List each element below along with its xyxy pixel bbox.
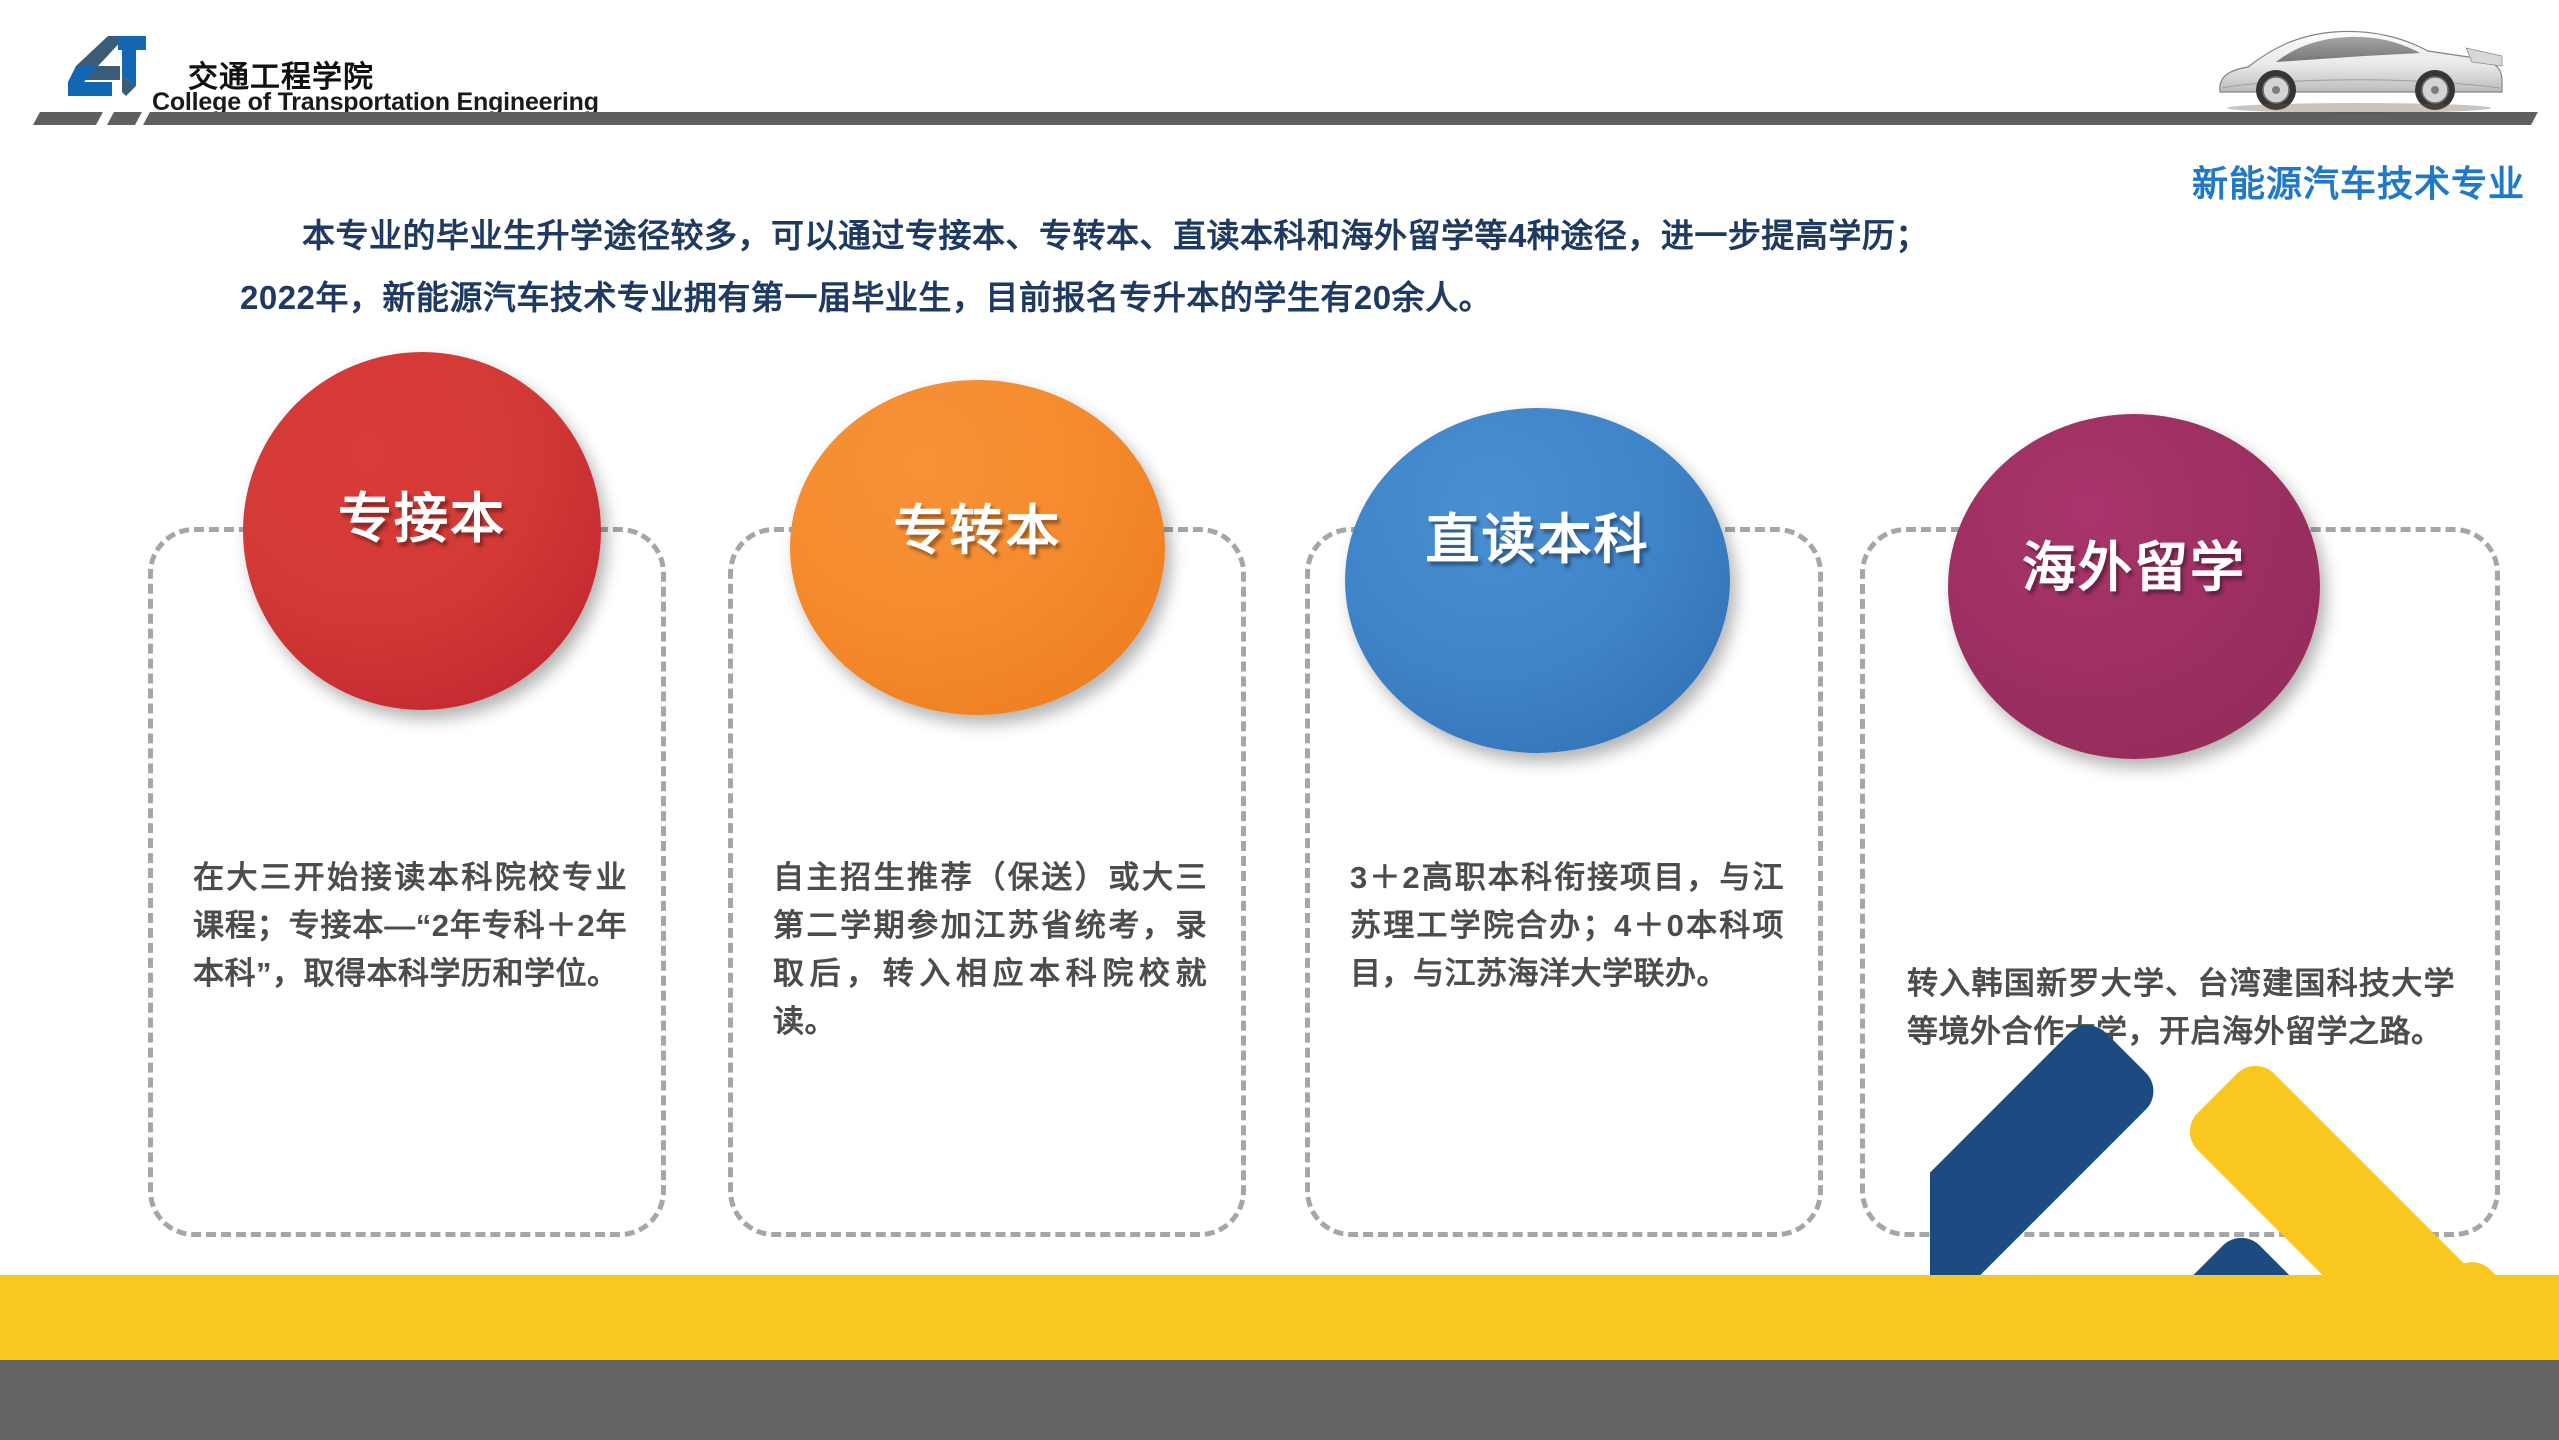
footer-band-gray: [0, 1360, 2559, 1440]
footer-band-yellow: [0, 1275, 2559, 1360]
pathway-circle-0[interactable]: 专接本: [243, 352, 601, 710]
intro-line-2: 2022年，新能源汽车技术专业拥有第一届毕业生，目前报名专升本的学生有20余人。: [240, 267, 2340, 329]
divider-segment-left-a: [33, 112, 103, 125]
pathway-circle-3[interactable]: 海外留学: [1948, 414, 2320, 759]
pathway-card-body-1: 自主招生推荐（保送）或大三第二学期参加江苏省统考，录取后，转入相应本科院校就读。: [773, 854, 1207, 1046]
pathway-circle-label-2: 直读本科: [1426, 495, 1650, 574]
slide-root: 交通工程学院 College of Transportation Enginee…: [0, 0, 2559, 1440]
jt-monogram-logo-icon: [68, 36, 146, 108]
header-divider: [143, 112, 2538, 125]
sports-car-sketch-icon: [2214, 18, 2504, 113]
pathway-card-body-3: 转入韩国新罗大学、台湾建国科技大学等境外合作大学，开启海外留学之路。: [1907, 960, 2455, 1056]
pathway-circle-label-3: 海外留学: [2022, 523, 2246, 602]
page-title: 新能源汽车技术专业: [2192, 155, 2525, 207]
pathway-circle-label-0: 专接本: [338, 474, 506, 553]
pathway-circle-label-1: 专转本: [894, 486, 1062, 565]
pathway-card-body-0: 在大三开始接读本科院校专业课程；专接本—“2年专科＋2年本科”，取得本科学历和学…: [193, 854, 627, 998]
pathway-circle-1[interactable]: 专转本: [790, 380, 1165, 715]
pathway-circle-2[interactable]: 直读本科: [1345, 408, 1730, 753]
pathway-card-body-2: 3＋2高职本科衔接项目，与江苏理工学院合办；4＋0本科项目，与江苏海洋大学联办。: [1350, 854, 1784, 998]
divider-segment-left-b: [107, 112, 142, 125]
header: 交通工程学院 College of Transportation Enginee…: [0, 0, 2559, 135]
intro-paragraph: 本专业的毕业生升学途径较多，可以通过专接本、专转本、直读本科和海外留学等4种途径…: [240, 205, 2340, 329]
intro-line-1: 本专业的毕业生升学途径较多，可以通过专接本、专转本、直读本科和海外留学等4种途径…: [240, 205, 2340, 267]
